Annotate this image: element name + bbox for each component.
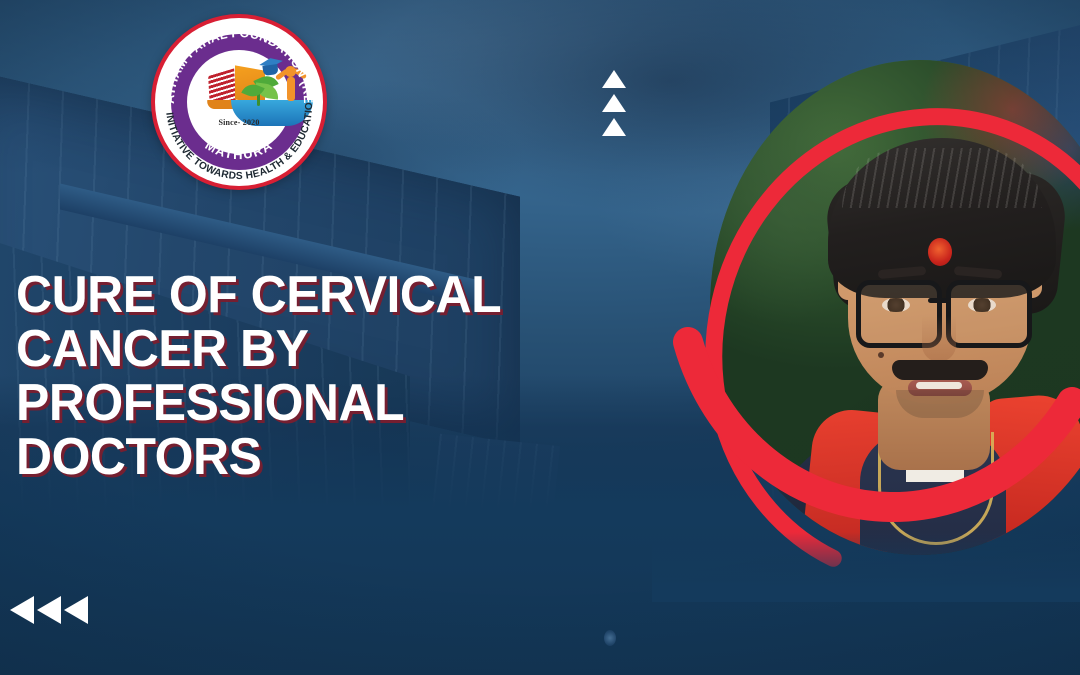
headline-line-3: PROFESSIONAL bbox=[16, 376, 630, 430]
headline-line-1: CURE OF CERVICAL bbox=[16, 268, 630, 322]
red-accent-ring bbox=[652, 42, 1080, 572]
lens-speck bbox=[604, 630, 616, 646]
logo-inner-ring-top-text: PRATHAM PAHAL FOUNDATION (REG.) bbox=[151, 14, 315, 104]
triangle-up-icon bbox=[602, 70, 626, 88]
triangle-up-icon bbox=[602, 94, 626, 112]
logo-established-text: Since- 2020 bbox=[151, 118, 327, 127]
triangle-left-icon bbox=[64, 596, 88, 624]
svg-text:PRATHAM PAHAL FOUNDATION (REG.: PRATHAM PAHAL FOUNDATION (REG.) bbox=[151, 14, 315, 104]
triangle-left-group bbox=[10, 596, 88, 626]
logo-inner-ring-bottom-text: MATHURA bbox=[203, 137, 276, 162]
foundation-logo[interactable]: PRATHAM PAHAL FOUNDATION (REG.) MATHURA … bbox=[151, 14, 327, 190]
logo-curved-text: PRATHAM PAHAL FOUNDATION (REG.) MATHURA … bbox=[151, 14, 327, 190]
headline-line-2: CANCER BY bbox=[16, 322, 630, 376]
triangle-up-icon bbox=[602, 118, 626, 136]
portrait-bottom-fade bbox=[652, 532, 1080, 602]
banner-canvas: PRATHAM PAHAL FOUNDATION (REG.) MATHURA … bbox=[0, 0, 1080, 675]
speaker-portrait-block bbox=[652, 42, 1080, 602]
triangle-left-icon bbox=[37, 596, 61, 624]
svg-text:MATHURA: MATHURA bbox=[203, 137, 276, 162]
headline-line-4: DOCTORS bbox=[16, 430, 630, 484]
page-title: CURE OF CERVICAL CANCER BY PROFESSIONAL … bbox=[16, 268, 630, 484]
triangle-left-icon bbox=[10, 596, 34, 624]
triangle-up-group bbox=[602, 70, 628, 138]
